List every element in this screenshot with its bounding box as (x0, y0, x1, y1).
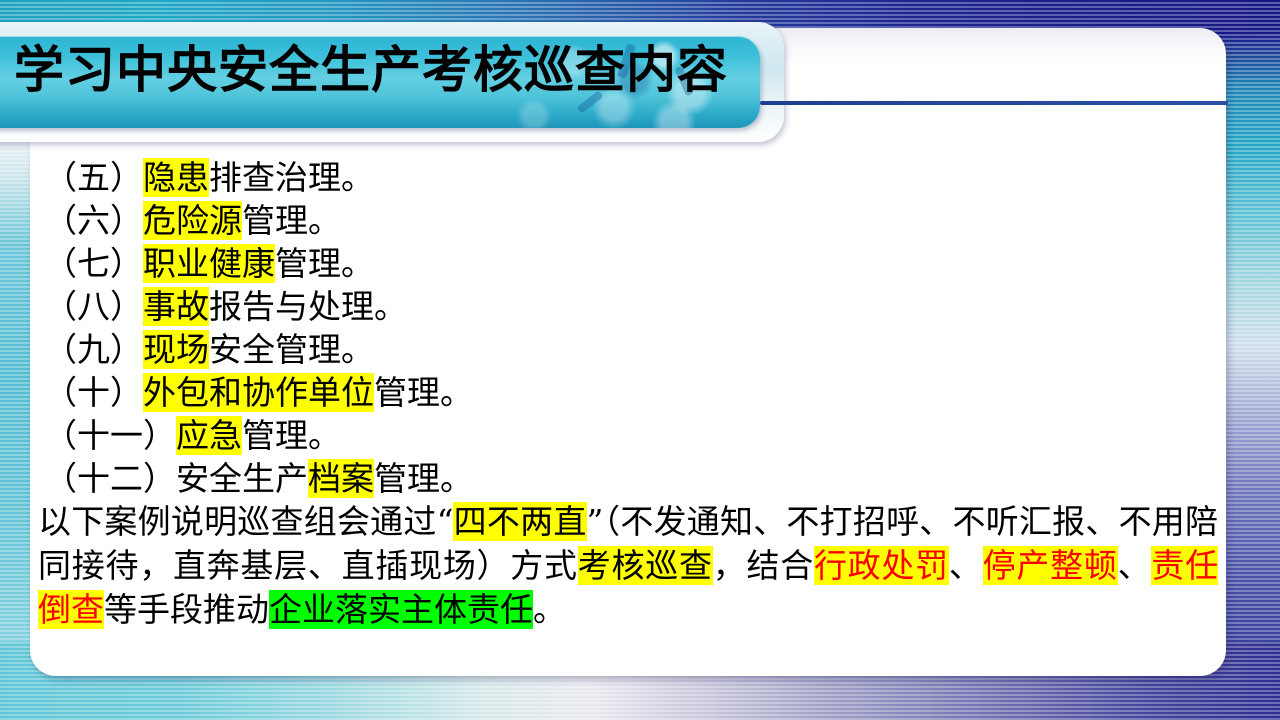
slide-root: 学习中央安全生产考核巡查内容 （五）隐患排查治理。（六）危险源管理。（七）职业健… (0, 0, 1280, 720)
list-item-highlight: 外包和协作单位 (143, 373, 374, 412)
summary-paragraph: 以下案例说明巡查组会通过“四不两直”（不发通知、不打招呼、不听汇报、不用陪同接待… (36, 500, 1222, 632)
list-item-text: 管理。 (242, 416, 341, 455)
list-item: （六）危险源管理。 (36, 199, 1228, 242)
list-item-number: （八） (44, 287, 143, 326)
list-item: （九）现场安全管理。 (36, 328, 1228, 371)
list-item-number: （十一） (44, 416, 176, 455)
list-item: （十）外包和协作单位管理。 (36, 371, 1228, 414)
list-item-text: 管理。 (242, 201, 341, 240)
list-item: （十二）安全生产档案管理。 (36, 457, 1228, 500)
paragraph-highlight: 四不两直 (453, 502, 586, 541)
list-item-highlight: 隐患 (143, 158, 209, 197)
paragraph-text: 、 (1118, 546, 1152, 585)
list-item-number: （五） (44, 158, 143, 197)
list-item-text: 管理。 (275, 244, 374, 283)
paragraph-text: 。 (533, 590, 566, 629)
paragraph-highlight: 行政处罚 (814, 546, 949, 585)
list-item: （五）隐患排查治理。 (36, 156, 1228, 199)
list-item-highlight: 应急 (176, 416, 242, 455)
list-item-number: （十） (44, 373, 143, 412)
list-item-number: （七） (44, 244, 143, 283)
list-item-highlight: 职业健康 (143, 244, 275, 283)
list-item-highlight: 危险源 (143, 201, 242, 240)
list-item-text: 排查治理。 (209, 158, 374, 197)
paragraph-text: 等手段推动 (104, 590, 269, 629)
paragraph-highlight: 企业落实主体责任 (269, 590, 533, 629)
paragraph-text: 、 (949, 546, 983, 585)
list-item: （十一）应急管理。 (36, 414, 1228, 457)
list-item-text: 管理。 (374, 373, 473, 412)
numbered-list: （五）隐患排查治理。（六）危险源管理。（七）职业健康管理。（八）事故报告与处理。… (36, 156, 1228, 500)
list-item-text: 报告与处理。 (209, 287, 407, 326)
list-item-text: 管理。 (374, 459, 473, 498)
title-banner: 学习中央安全生产考核巡查内容 (0, 22, 800, 144)
list-item-number: （十二） (44, 459, 176, 498)
list-item: （七）职业健康管理。 (36, 242, 1228, 285)
slide-body: （五）隐患排查治理。（六）危险源管理。（七）职业健康管理。（八）事故报告与处理。… (36, 156, 1228, 632)
list-item-number: （九） (44, 330, 143, 369)
list-item-number: （六） (44, 201, 143, 240)
page-title: 学习中央安全生产考核巡查内容 (14, 40, 774, 100)
paragraph-text: ，结合 (713, 546, 814, 585)
list-item: （八）事故报告与处理。 (36, 285, 1228, 328)
list-item-highlight: 档案 (308, 459, 374, 498)
paragraph-highlight: 停产整顿 (983, 546, 1118, 585)
list-item-text: 安全生产 (176, 459, 308, 498)
list-item-text: 安全管理。 (209, 330, 374, 369)
list-item-highlight: 现场 (143, 330, 209, 369)
paragraph-highlight: 考核巡查 (578, 546, 713, 585)
paragraph-text: 以下案例说明巡查组会通过“ (38, 502, 453, 541)
title-underline-rule (760, 101, 1228, 105)
list-item-highlight: 事故 (143, 287, 209, 326)
